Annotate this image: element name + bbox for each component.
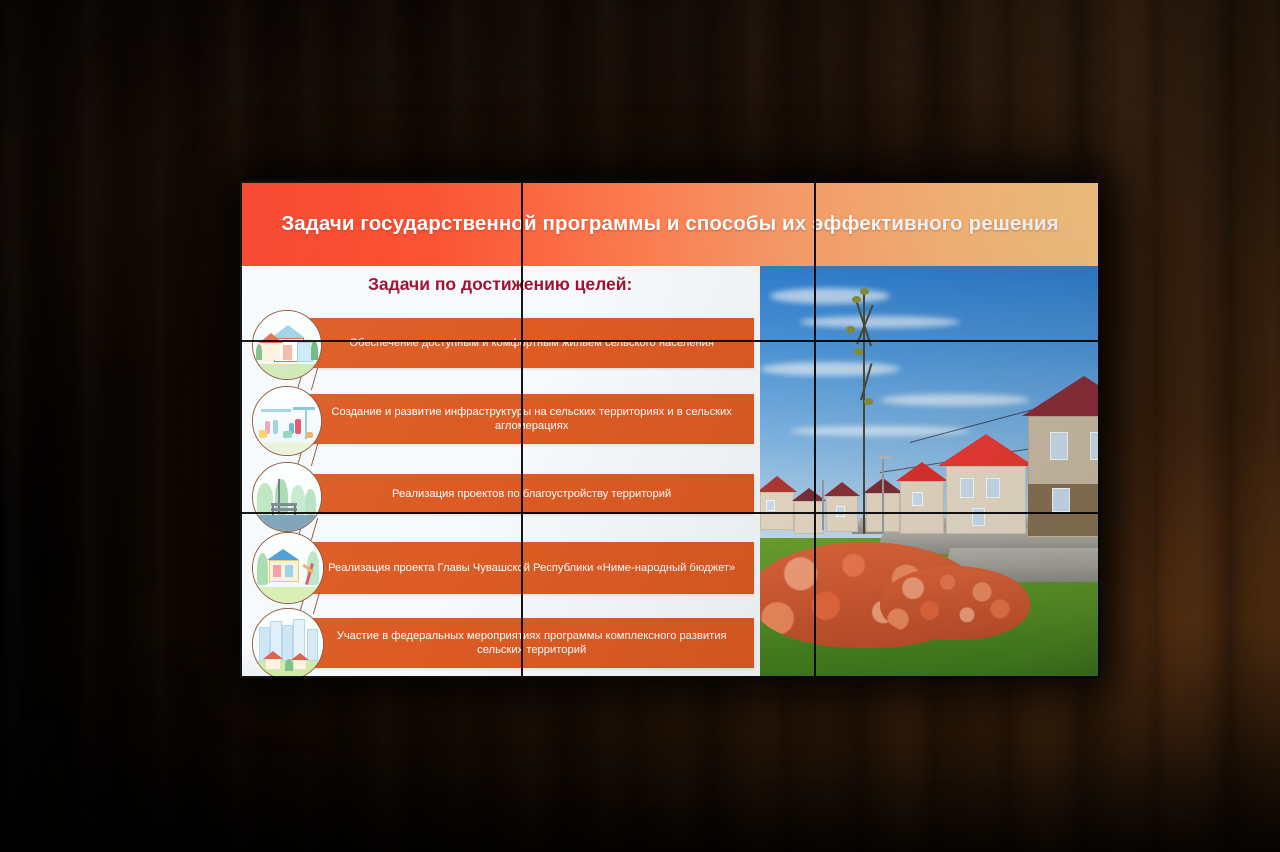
bus-stop-people-icon: [252, 386, 322, 456]
playground-icon: [252, 532, 324, 604]
city-and-village-icon: [252, 608, 324, 678]
scene-vignette: [0, 0, 1280, 852]
stage: Задачи государственной программы и спосо…: [0, 0, 1280, 852]
village-houses-icon: [252, 310, 322, 380]
park-bench-icon: [252, 462, 322, 532]
